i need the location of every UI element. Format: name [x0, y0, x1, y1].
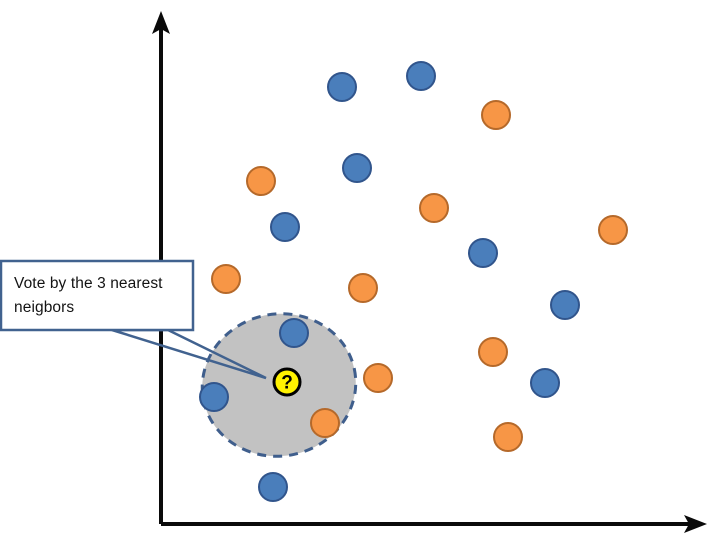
data-point-orange[interactable]: [599, 216, 627, 244]
callout-box[interactable]: Vote by the 3 nearest neigbors: [1, 261, 193, 330]
data-point-blue[interactable]: [259, 473, 287, 501]
data-point-orange[interactable]: [349, 274, 377, 302]
data-point-blue[interactable]: [531, 369, 559, 397]
callout-line-1: Vote by the 3 nearest: [14, 275, 163, 292]
data-point-orange[interactable]: [212, 265, 240, 293]
data-point-orange[interactable]: [482, 101, 510, 129]
data-point-blue[interactable]: [407, 62, 435, 90]
diagram-canvas: Vote by the 3 nearest neigbors ?: [0, 0, 720, 540]
data-point-orange[interactable]: [420, 194, 448, 222]
data-point-blue-neighbor[interactable]: [280, 319, 308, 347]
data-point-blue[interactable]: [343, 154, 371, 182]
callout-line-2: neigbors: [14, 299, 74, 316]
query-point-label: ?: [281, 373, 293, 394]
data-point-orange[interactable]: [364, 364, 392, 392]
data-point-blue[interactable]: [469, 239, 497, 267]
data-point-blue[interactable]: [271, 213, 299, 241]
query-point[interactable]: ?: [274, 369, 300, 395]
data-point-blue[interactable]: [328, 73, 356, 101]
knn-scatter-diagram: Vote by the 3 nearest neigbors ?: [0, 0, 720, 540]
data-point-blue-neighbor[interactable]: [200, 383, 228, 411]
data-point-orange-neighbor[interactable]: [311, 409, 339, 437]
data-point-orange[interactable]: [247, 167, 275, 195]
data-point-orange[interactable]: [494, 423, 522, 451]
callout-box-rect: [1, 261, 193, 330]
data-point-blue[interactable]: [551, 291, 579, 319]
data-point-orange[interactable]: [479, 338, 507, 366]
